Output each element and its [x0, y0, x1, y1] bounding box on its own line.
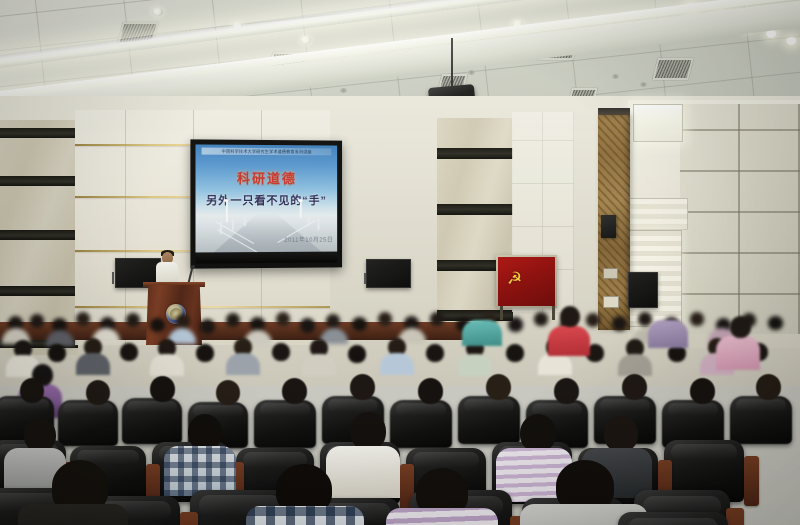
- ceiling-downlight: [766, 30, 777, 38]
- wall-speaker: [601, 215, 616, 238]
- hammer-and-sickle-icon: ☭: [507, 269, 529, 289]
- person-pink-blouse: [716, 336, 760, 370]
- person-white-shirt: [326, 446, 400, 498]
- wall-monitor-right: [366, 259, 411, 288]
- slide-pier-image: [214, 214, 322, 252]
- auditorium-seat-front: [618, 512, 728, 525]
- seat-armrest: [744, 456, 759, 506]
- auditorium-seat: [458, 396, 520, 444]
- person-teal-shirt: [462, 320, 502, 346]
- microphone-icon: [191, 265, 195, 269]
- audience-seating: [0, 300, 800, 525]
- auditorium-seat: [254, 400, 316, 448]
- slide-title: 科研道德: [195, 168, 337, 188]
- seat-armrest: [726, 508, 744, 525]
- slide-date-stamp: 2011年10月25日: [284, 235, 333, 244]
- slide-content: 中国科学技术大学研究生学术道德教育系列讲座 科研道德 另外一只看不见的“手” 2…: [195, 144, 337, 252]
- hvac-diffuser-icon: [652, 58, 693, 80]
- window-blind: [628, 198, 688, 230]
- projection-screen: 中国科学技术大学研究生学术道德教育系列讲座 科研道德 另外一只看不见的“手” 2…: [190, 139, 342, 268]
- screen-bottom-bar: [195, 252, 337, 264]
- person-red-polo: [548, 326, 590, 356]
- ceiling-downlight: [786, 37, 797, 45]
- seat-armrest: [180, 512, 198, 525]
- ceiling-downlight: [152, 8, 163, 16]
- slide-subtitle: 另外一只看不见的“手”: [195, 192, 337, 208]
- clerestory-window: [633, 104, 683, 142]
- auditorium-seat: [122, 398, 182, 444]
- person-lavender-stripe: [386, 508, 498, 525]
- person-plaid-shirt-near: [246, 506, 364, 525]
- person-black-top: [18, 504, 128, 525]
- auditorium-seat: [58, 400, 118, 446]
- person-plaid-shirt: [164, 446, 236, 496]
- auditorium-seat: [390, 400, 452, 448]
- lecture-hall-photo: 中国科学技术大学研究生学术道德教育系列讲座 科研道德 另外一只看不见的“手” 2…: [0, 0, 800, 525]
- projector-mount-pole: [451, 38, 453, 90]
- wall-switch-plate: [603, 268, 618, 279]
- slide-header-banner: 中国科学技术大学研究生学术道德教育系列讲座: [202, 148, 332, 156]
- person-lilac-shirt: [648, 320, 688, 348]
- ceiling-downlight: [300, 36, 311, 44]
- auditorium-seat: [730, 396, 792, 444]
- party-flag: ☭: [498, 257, 555, 306]
